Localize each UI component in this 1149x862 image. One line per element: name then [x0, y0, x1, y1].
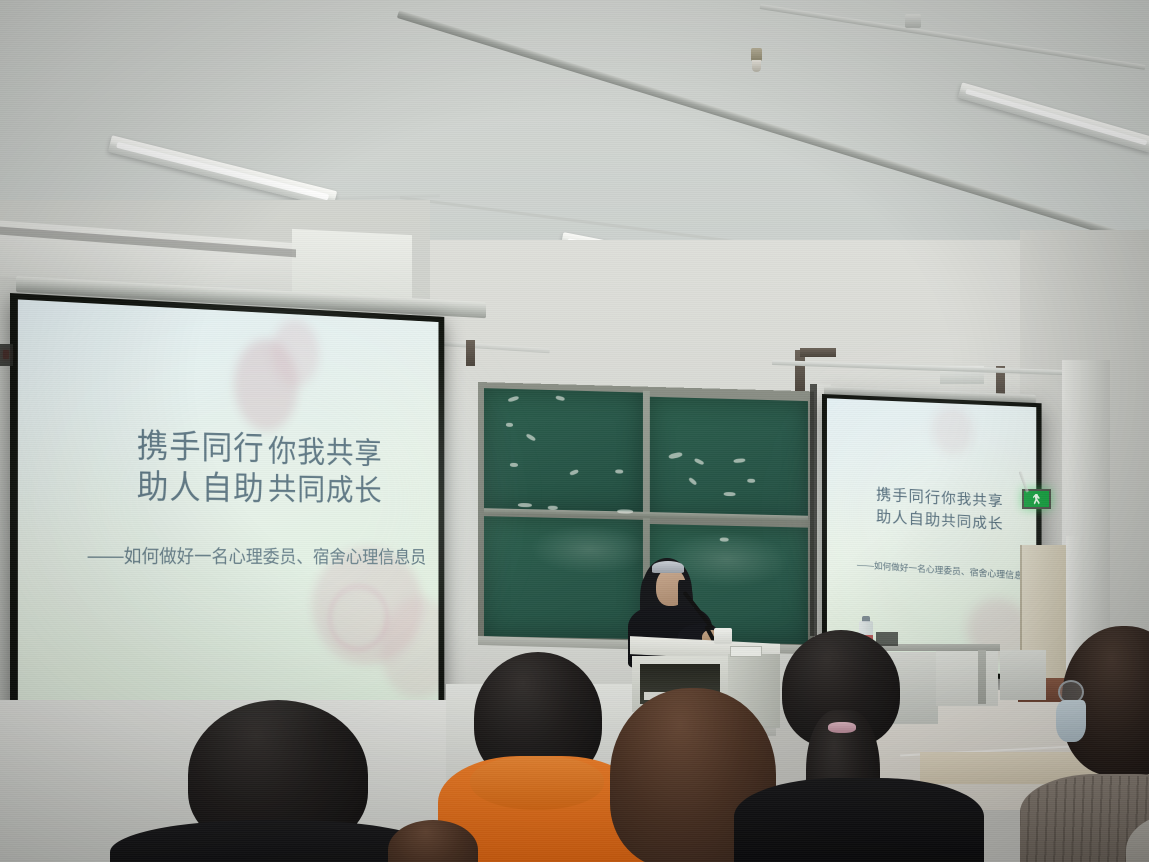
podium-label	[730, 646, 762, 657]
chalk-mark	[724, 492, 736, 496]
hair-tie	[828, 722, 856, 733]
chalkboard-panel	[649, 397, 808, 522]
chalk-mark	[747, 479, 755, 483]
slide-subtitle: ——如何做好一名心理委员、宿舍心理信息员	[88, 541, 427, 568]
slide-title-line-2-right: 共同成长	[268, 465, 382, 510]
chalk-mark	[617, 509, 633, 513]
slide-title-line-2-left: 助人自助	[876, 505, 941, 530]
presenter-headband	[652, 561, 684, 573]
chalk-mark	[615, 469, 623, 473]
student-shoulders	[734, 778, 984, 862]
ceiling-bracket	[800, 348, 836, 357]
slide-title-line-1-right: 你我共享	[941, 488, 1003, 512]
ceiling-bracket	[466, 340, 475, 366]
chalk-mark	[510, 463, 518, 467]
slide-title-line-1-left: 携手同行	[876, 483, 941, 508]
student-face-mask	[1056, 700, 1086, 742]
fire-sprinkler-icon	[749, 48, 764, 74]
chalkboard-panel	[484, 388, 643, 514]
pipe-joint	[905, 14, 921, 28]
screen-surface: 携手同行 你我共享 助人自助 共同成长 ——如何做好一名心理委员、宿舍心理信息员	[18, 299, 439, 711]
podium-cup	[714, 628, 732, 644]
classroom-photo-scene: 携手同行 你我共享 助人自助 共同成长 ——如何做好一名心理委员、宿舍心理信息员	[0, 0, 1149, 862]
running-figure-icon	[1033, 494, 1040, 505]
slide-title-line-2-right: 共同成长	[941, 510, 1003, 534]
window-frame	[810, 384, 817, 636]
chalk-mark	[548, 506, 558, 510]
student-head	[388, 820, 478, 862]
slide-subtitle: ——如何做好一名心理委员、宿舍心理信息员	[857, 558, 1032, 582]
audience-member	[168, 700, 418, 862]
slide-title-line-2-left: 助人自助	[137, 460, 265, 509]
audience-member	[388, 820, 478, 862]
audience-member	[762, 630, 972, 862]
wall-indicator-housing	[0, 344, 13, 366]
slide-content: 携手同行 你我共享 助人自助 共同成长 ——如何做好一名心理委员、宿舍心理信息员	[18, 299, 439, 711]
chalk-mark	[518, 503, 532, 507]
main-projection-screen: 携手同行 你我共享 助人自助 共同成长 ——如何做好一名心理委员、宿舍心理信息员	[10, 293, 444, 721]
chalk-mark	[506, 423, 513, 427]
desk-panel-trim	[978, 650, 986, 704]
student-hood	[470, 756, 604, 810]
audience-member	[1030, 626, 1149, 862]
